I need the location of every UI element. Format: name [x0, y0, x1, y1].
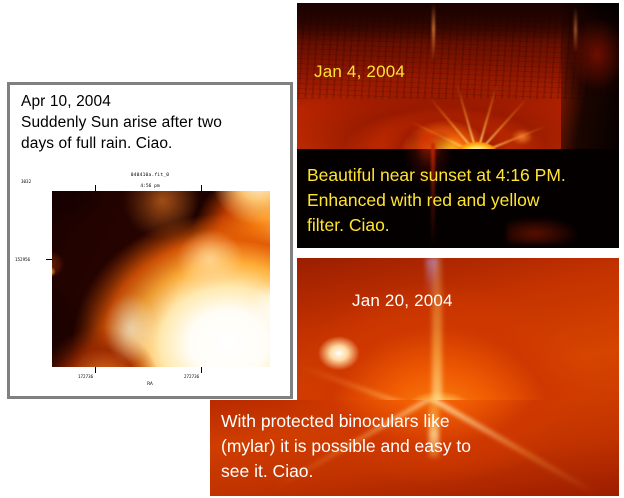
lens-streak-center	[432, 3, 435, 61]
fits-plot-title: 040410a.fit_0	[10, 173, 290, 178]
fits-plot-x-axis-title: RA	[10, 382, 290, 387]
lens-flare-dot	[511, 129, 533, 145]
foreground-silhouette	[561, 3, 619, 155]
fits-raster-image	[52, 191, 270, 367]
fits-plot-x-tick-bottom-right	[201, 367, 202, 373]
jan-20-caption: With protected binoculars like (mylar) i…	[221, 409, 521, 484]
lens-streak-right	[574, 7, 577, 53]
fits-plot: 040410a.fit_0 4:56 pm 3032 152956 172736…	[10, 171, 290, 396]
panel-jan-20-2004-caption-strip: With protected binoculars like (mylar) i…	[210, 400, 619, 496]
jan-4-caption: Beautiful near sunset at 4:16 PM. Enhanc…	[307, 163, 613, 238]
fits-plot-y-label-mid: 152956	[15, 257, 30, 262]
fits-plot-x-label-right: 272736	[184, 374, 199, 379]
panel-jan-4-2004: Jan 4, 2004 Beautiful near sunset at 4:1…	[297, 3, 619, 248]
fits-plot-x-label-left: 172736	[78, 374, 93, 379]
fits-layer-hotspots	[52, 191, 270, 367]
left-panel-caption: Apr 10, 2004 Suddenly Sun arise after tw…	[21, 91, 289, 154]
fits-plot-y-label-top: 3032	[21, 179, 31, 184]
fits-plot-time-label: 4:56 pm	[10, 184, 290, 189]
slide-canvas: Apr 10, 2004 Suddenly Sun arise after tw…	[0, 0, 624, 498]
fits-plot-x-tick-bottom-left	[95, 367, 96, 373]
panel-apr-10-2004: Apr 10, 2004 Suddenly Sun arise after tw…	[7, 82, 293, 399]
jan-20-date-label: Jan 20, 2004	[352, 291, 453, 311]
jan-4-date-label: Jan 4, 2004	[314, 62, 405, 82]
